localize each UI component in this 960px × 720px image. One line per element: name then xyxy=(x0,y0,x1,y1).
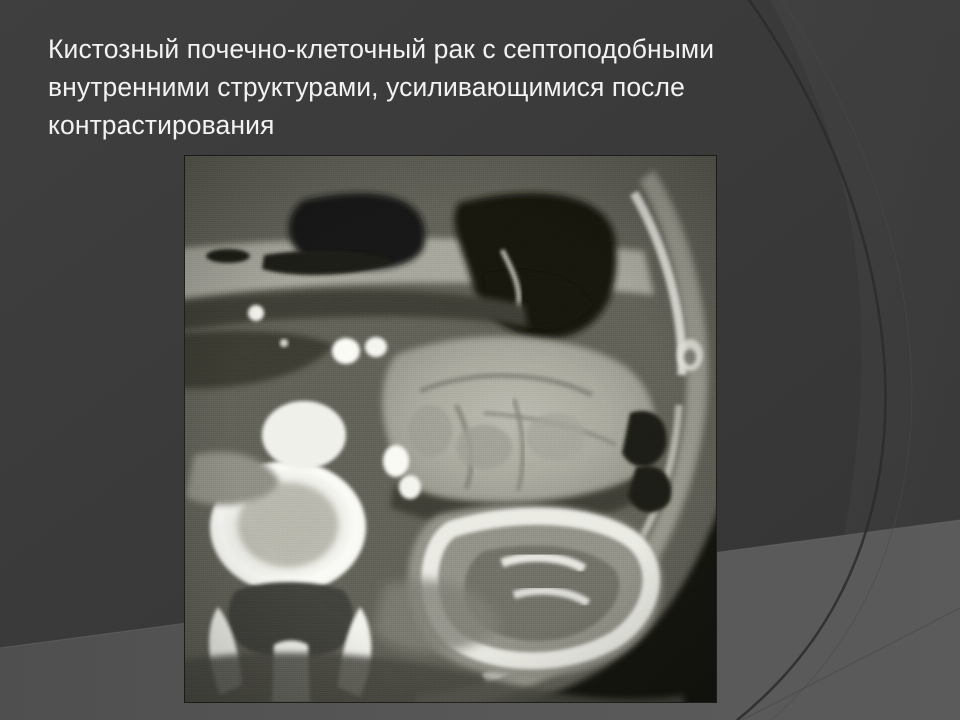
ct-scan-graphic xyxy=(184,155,717,703)
slide-title: Кистозный почечно-клеточный рак с септоп… xyxy=(48,30,838,144)
presentation-slide: Кистозный почечно-клеточный рак с септоп… xyxy=(0,0,960,720)
ct-film-grain xyxy=(184,155,717,703)
abdominal-ct-scan-image xyxy=(184,155,717,703)
